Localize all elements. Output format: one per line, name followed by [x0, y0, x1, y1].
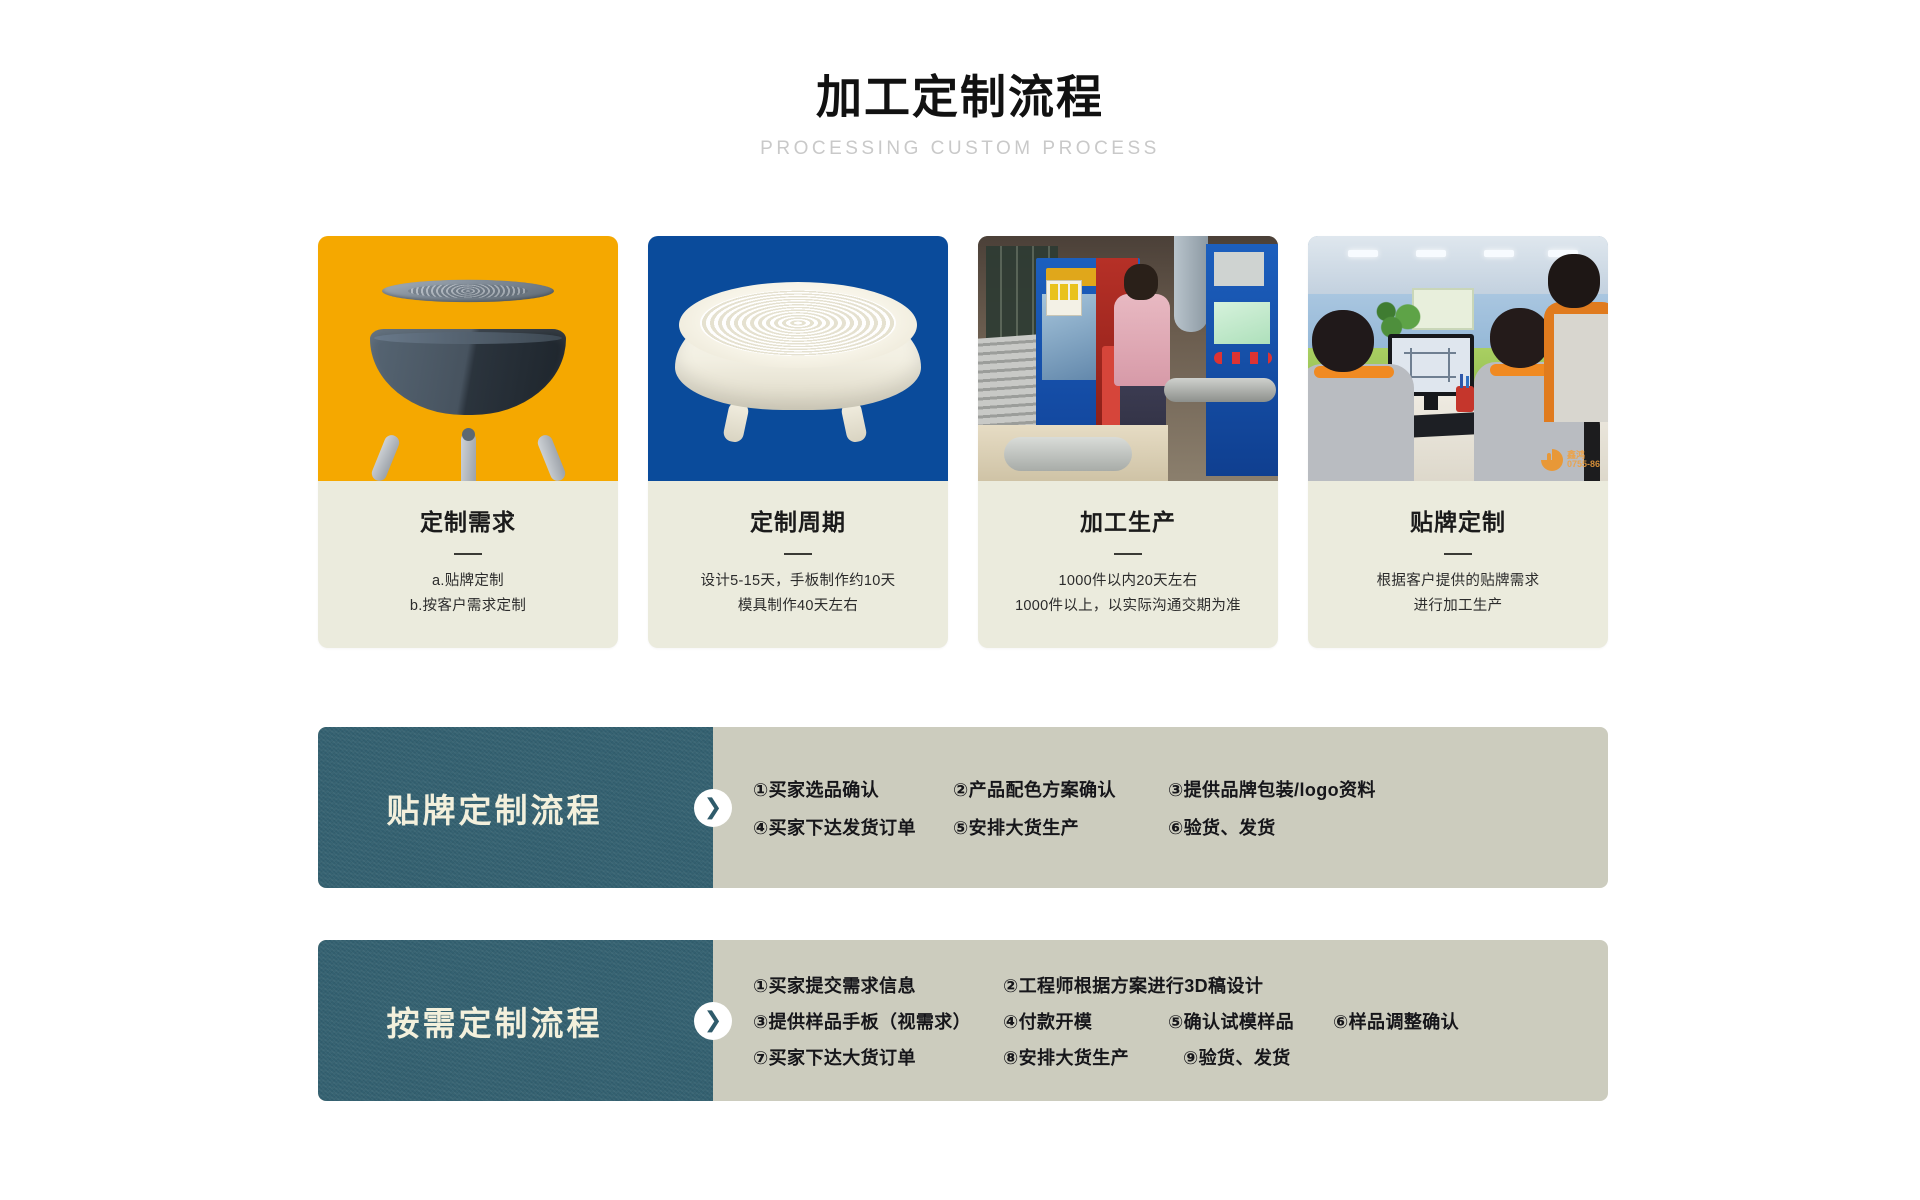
- process-cards-row: 定制需求 a.贴牌定制 b.按客户需求定制 定制周期 设计5-15天，手板制作约…: [318, 236, 1608, 648]
- process-card-title: 定制周期: [658, 503, 938, 537]
- control-panel-buttons: [1214, 352, 1272, 364]
- oem-step-6: ⑥验货、发货: [1168, 814, 1276, 840]
- title-divider: [1114, 553, 1142, 555]
- oem-step-4: ④买家下达发货订单: [753, 814, 953, 840]
- ondemand-step-6: ⑥样品调整确认: [1333, 1008, 1459, 1034]
- grill-bowl-shape: [370, 329, 566, 415]
- control-panel-upper-display: [1214, 252, 1264, 286]
- ondemand-steps-row-3: ⑦买家下达大货订单 ⑧安排大货生产 ⑨验货、发货: [753, 1039, 1608, 1075]
- process-card-title: 定制需求: [328, 503, 608, 537]
- ceiling-light: [1416, 250, 1446, 257]
- chevron-glyph: ❯: [704, 1009, 722, 1031]
- title-divider: [784, 553, 812, 555]
- ondemand-process-label: 按需定制流程: [387, 997, 645, 1045]
- oem-process-label-block: 贴牌定制流程 ❯: [318, 727, 713, 888]
- oem-steps-row-2: ④买家下达发货订单 ⑤安排大货生产 ⑥验货、发货: [753, 808, 1608, 846]
- company-watermark: 鑫鸿 0755-86: [1541, 449, 1600, 471]
- ceiling-light: [1484, 250, 1514, 257]
- grill-leg-left: [370, 433, 402, 481]
- process-card-title: 加工生产: [988, 503, 1268, 537]
- process-card-body: 加工生产 1000件以内20天左右 1000件以上，以实际沟通交期为准: [978, 481, 1278, 648]
- ondemand-step-1: ①买家提交需求信息: [753, 972, 1003, 998]
- oem-process-label: 贴牌定制流程: [387, 784, 645, 832]
- oem-steps-row-1: ①买家选品确认 ②产品配色方案确认 ③提供品牌包装/logo资料: [753, 770, 1608, 808]
- ondemand-process-banner: 按需定制流程 ❯ ①买家提交需求信息 ②工程师根据方案进行3D稿设计 ③提供样品…: [318, 940, 1608, 1101]
- pen-holder-cup: [1456, 386, 1474, 412]
- watermark-logo-icon: [1541, 449, 1563, 471]
- engineer-center-head: [1490, 308, 1550, 368]
- office-engineers-cad-image: 鑫鸿 0755-86: [1308, 236, 1608, 481]
- ondemand-step-9: ⑨验货、发货: [1183, 1044, 1291, 1070]
- oem-process-banner: 贴牌定制流程 ❯ ①买家选品确认 ②产品配色方案确认 ③提供品牌包装/logo资…: [318, 727, 1608, 888]
- process-card-desc-line-2: b.按客户需求定制: [328, 594, 608, 619]
- overhead-duct: [1174, 236, 1208, 332]
- white-prototype-sample-image: [648, 236, 948, 481]
- process-card-oem-branding[interactable]: 鑫鸿 0755-86 贴牌定制 根据客户提供的贴牌需求 进行加工生产: [1308, 236, 1608, 648]
- control-panel-screen: [1214, 302, 1270, 344]
- process-card-desc-line-1: a.贴牌定制: [328, 569, 608, 594]
- process-card-desc-line-2: 模具制作40天左右: [658, 594, 938, 619]
- worker-head: [1124, 264, 1158, 300]
- exploded-grill-product-image: [318, 236, 618, 481]
- chevron-right-icon: ❯: [694, 789, 732, 827]
- process-card-body: 定制周期 设计5-15天，手板制作约10天 模具制作40天左右: [648, 481, 948, 648]
- ondemand-step-2: ②工程师根据方案进行3D稿设计: [1003, 972, 1263, 998]
- machine-warning-label: [1046, 280, 1082, 316]
- page-subtitle: PROCESSING CUSTOM PROCESS: [0, 138, 1920, 160]
- ceiling-light: [1348, 250, 1378, 257]
- ondemand-step-3: ③提供样品手板（视需求）: [753, 1008, 1003, 1034]
- process-card-desc-line-1: 设计5-15天，手板制作约10天: [658, 569, 938, 594]
- monitor-stand: [1424, 396, 1438, 410]
- process-card-title: 贴牌定制: [1318, 503, 1598, 537]
- grill-lid-shape: [382, 280, 554, 302]
- watermark-text: 鑫鸿 0755-86: [1567, 451, 1600, 470]
- chevron-glyph: ❯: [704, 796, 722, 818]
- prototype-ring-pattern: [700, 290, 896, 356]
- grill-leg-center: [461, 432, 476, 481]
- ondemand-steps-row-2: ③提供样品手板（视需求） ④付款开模 ⑤确认试模样品 ⑥样品调整确认: [753, 1003, 1608, 1039]
- ondemand-step-8: ⑧安排大货生产: [1003, 1044, 1183, 1070]
- page-title: 加工定制流程: [0, 70, 1920, 125]
- process-card-desc-line-1: 1000件以内20天左右: [988, 569, 1268, 594]
- ondemand-step-4: ④付款开模: [1003, 1008, 1168, 1034]
- process-card-body: 贴牌定制 根据客户提供的贴牌需求 进行加工生产: [1308, 481, 1608, 648]
- engineer-right-shirt: [1554, 314, 1608, 422]
- oem-step-5: ⑤安排大货生产: [953, 814, 1168, 840]
- oem-step-2: ②产品配色方案确认: [953, 776, 1168, 802]
- ondemand-step-5: ⑤确认试模样品: [1168, 1008, 1333, 1034]
- process-card-desc-line-2: 进行加工生产: [1318, 594, 1598, 619]
- oem-step-1: ①买家选品确认: [753, 776, 953, 802]
- ondemand-process-label-block: 按需定制流程 ❯: [318, 940, 713, 1101]
- process-card-desc-line-1: 根据客户提供的贴牌需求: [1318, 569, 1598, 594]
- chevron-right-icon: ❯: [694, 1002, 732, 1040]
- molded-part-on-table: [1004, 437, 1132, 471]
- engineer-right-head: [1548, 254, 1600, 308]
- process-card-production[interactable]: 加工生产 1000件以内20天左右 1000件以上，以实际沟通交期为准: [978, 236, 1278, 648]
- factory-production-image: [978, 236, 1278, 481]
- oem-step-3: ③提供品牌包装/logo资料: [1168, 776, 1376, 802]
- process-card-desc-line-2: 1000件以上，以实际沟通交期为准: [988, 594, 1268, 619]
- title-divider: [1444, 553, 1472, 555]
- process-card-custom-requirement[interactable]: 定制需求 a.贴牌定制 b.按客户需求定制: [318, 236, 618, 648]
- engineer-left-head: [1312, 310, 1374, 372]
- grill-leg-right: [536, 433, 568, 481]
- processing-custom-process-page: 加工定制流程 PROCESSING CUSTOM PROCESS 定制需求 a.…: [0, 0, 1920, 1200]
- ondemand-step-7: ⑦买家下达大货订单: [753, 1044, 1003, 1070]
- ondemand-process-steps: ①买家提交需求信息 ②工程师根据方案进行3D稿设计 ③提供样品手板（视需求） ④…: [713, 940, 1608, 1101]
- process-card-body: 定制需求 a.贴牌定制 b.按客户需求定制: [318, 481, 618, 648]
- worker-torso: [1114, 294, 1170, 386]
- ondemand-steps-row-1: ①买家提交需求信息 ②工程师根据方案进行3D稿设计: [753, 967, 1608, 1003]
- page-header: 加工定制流程 PROCESSING CUSTOM PROCESS: [0, 70, 1920, 160]
- title-divider: [454, 553, 482, 555]
- process-card-custom-cycle[interactable]: 定制周期 设计5-15天，手板制作约10天 模具制作40天左右: [648, 236, 948, 648]
- machine-pipe: [1164, 378, 1276, 402]
- engineer-left-body: [1308, 364, 1414, 481]
- oem-process-steps: ①买家选品确认 ②产品配色方案确认 ③提供品牌包装/logo资料 ④买家下达发货…: [713, 727, 1608, 888]
- cad-drawing-on-screen: [1404, 348, 1456, 382]
